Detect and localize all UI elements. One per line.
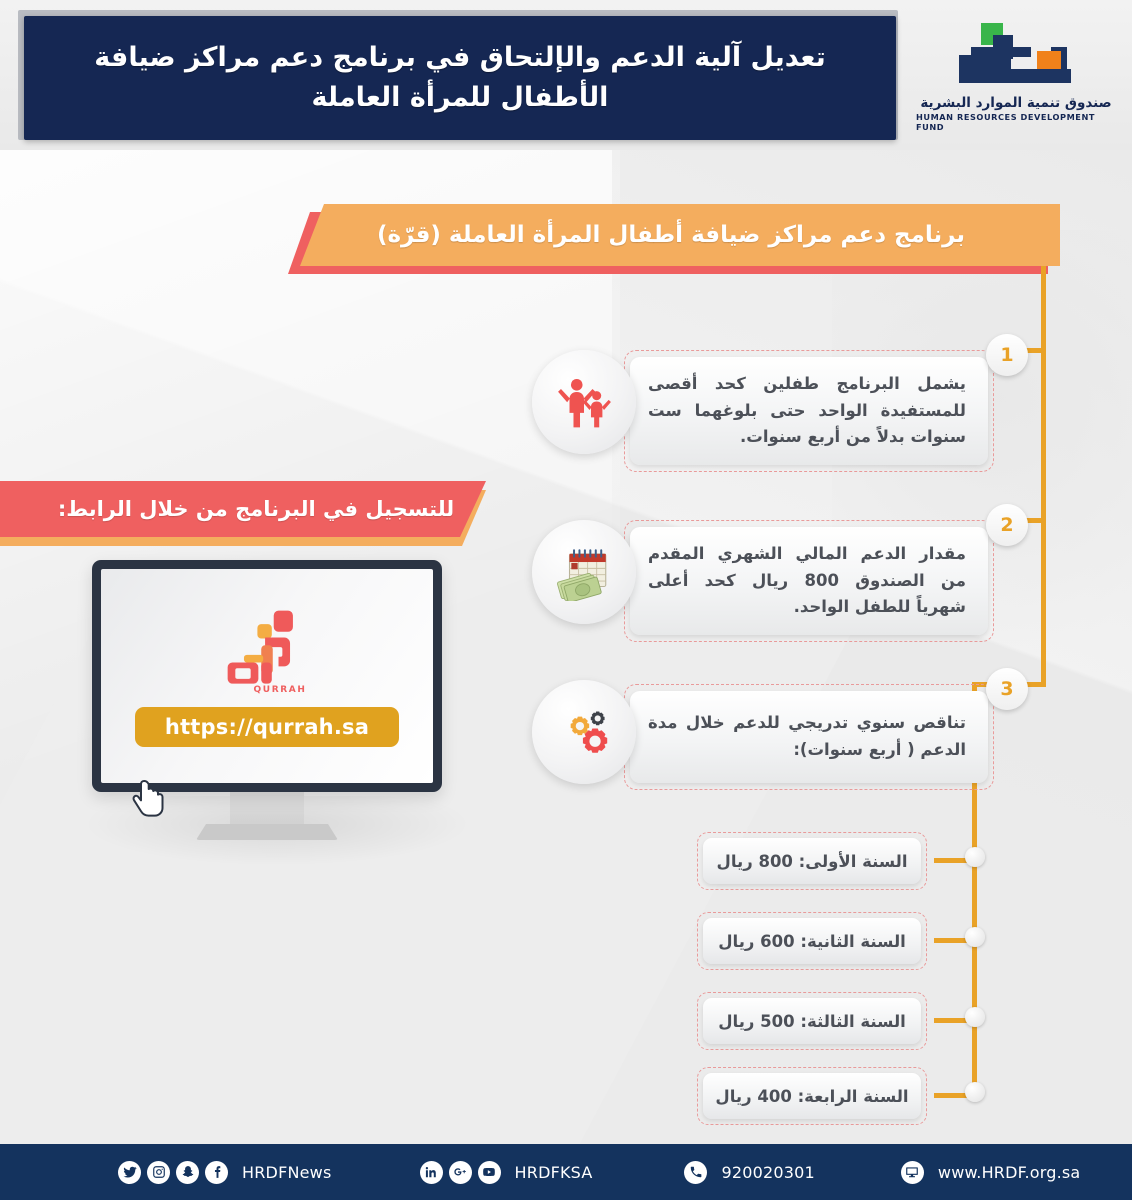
register-banner-label: للتسجيل في البرنامج من خلال الرابط: <box>32 497 454 521</box>
hrdf-logo-arabic-text: صندوق تنمية الموارد البشرية <box>920 95 1111 111</box>
twitter-icon[interactable] <box>118 1161 141 1184</box>
fact-number-badge-1: 1 <box>986 334 1028 376</box>
footer-label-news: HRDFNews <box>242 1163 332 1182</box>
year-card-body: السنة الثالثة: 500 ريال <box>703 998 921 1044</box>
header-panel: تعديل آلية الدعم والإلتحاق في برنامج دعم… <box>24 16 896 140</box>
monitor-screen: QURRAH https://qurrah.sa <box>101 569 433 783</box>
qurrah-wordmark: QURRAH <box>254 685 307 695</box>
linkedin-icon[interactable] <box>420 1161 443 1184</box>
header: تعديل آلية الدعم والإلتحاق في برنامج دعم… <box>0 0 1132 150</box>
fact-text-1: يشمل البرنامج طفلين كحد أقصى للمستفيدة ا… <box>630 371 988 451</box>
footer-group-social-news: HRDFNews <box>118 1161 332 1184</box>
fact-card-2: مقدار الدعم المالي الشهري المقدم من الصن… <box>624 520 994 642</box>
program-banner: برنامج دعم مراكز ضيافة أطفال المرأة العا… <box>300 204 1060 266</box>
facebook-icon[interactable] <box>205 1161 228 1184</box>
footer-group-social-ksa: HRDFKSA <box>420 1161 593 1184</box>
fact-number-badge-3: 3 <box>986 668 1028 710</box>
gears-icon <box>532 680 636 784</box>
monitor-base <box>196 824 338 840</box>
program-banner-label: برنامج دعم مراكز ضيافة أطفال المرأة العا… <box>377 222 983 248</box>
year-connector-dot-3 <box>965 1007 985 1027</box>
year-card-body: السنة الأولى: 800 ريال <box>703 838 921 884</box>
footer-label-website: www.HRDF.org.sa <box>938 1163 1081 1182</box>
phone-icon[interactable] <box>684 1161 707 1184</box>
google-plus-icon[interactable] <box>449 1161 472 1184</box>
register-banner: للتسجيل في البرنامج من خلال الرابط: <box>0 481 486 537</box>
footer-label-ksa: HRDFKSA <box>515 1163 593 1182</box>
year-label-2: السنة الثانية: 600 ريال <box>718 932 906 951</box>
fact-card-1: يشمل البرنامج طفلين كحد أقصى للمستفيدة ا… <box>624 350 994 472</box>
fact-number-badge-2: 2 <box>986 504 1028 546</box>
gears-icon-glyph <box>555 703 613 761</box>
connector-main-line <box>1041 266 1046 686</box>
qurrah-url-button[interactable]: https://qurrah.sa <box>135 707 399 747</box>
monitor-icon[interactable] <box>901 1161 924 1184</box>
footer-group-phone: 920020301 <box>684 1161 814 1184</box>
fact-card-body: يشمل البرنامج طفلين كحد أقصى للمستفيدة ا… <box>630 357 988 465</box>
year-connector-dot-4 <box>965 1082 985 1102</box>
snapchat-icon[interactable] <box>176 1161 199 1184</box>
infographic-poster: تعديل آلية الدعم والإلتحاق في برنامج دعم… <box>0 0 1132 1200</box>
calendar-money-icon-glyph <box>555 543 613 601</box>
year-label-1: السنة الأولى: 800 ريال <box>717 852 908 871</box>
year-item-3: السنة الثالثة: 500 ريال <box>697 992 927 1050</box>
page-title: تعديل آلية الدعم والإلتحاق في برنامج دعم… <box>24 38 896 119</box>
footer-label-phone: 920020301 <box>721 1163 814 1182</box>
fact-text-2: مقدار الدعم المالي الشهري المقدم من الصن… <box>630 541 988 621</box>
youtube-icon[interactable] <box>478 1161 501 1184</box>
family-icon <box>532 350 636 454</box>
calendar-money-icon <box>532 520 636 624</box>
year-card-body: السنة الثانية: 600 ريال <box>703 918 921 964</box>
footer-group-website: www.HRDF.org.sa <box>901 1161 1081 1184</box>
year-label-4: السنة الرابعة: 400 ريال <box>715 1087 908 1106</box>
year-item-4: السنة الرابعة: 400 ريال <box>697 1067 927 1125</box>
hrdf-logo-english-text: HUMAN RESOURCES DEVELOPMENT FUND <box>916 112 1116 132</box>
fact-card-body: تناقص سنوي تدريجي للدعم خلال مدة الدعم (… <box>630 691 988 783</box>
fact-text-3: تناقص سنوي تدريجي للدعم خلال مدة الدعم (… <box>630 710 988 763</box>
monitor-illustration: QURRAH https://qurrah.sa <box>92 560 462 850</box>
year-connector-dot-2 <box>965 927 985 947</box>
fact-card-3: تناقص سنوي تدريجي للدعم خلال مدة الدعم (… <box>624 684 994 790</box>
connector-years-line <box>972 800 977 1095</box>
year-card-body: السنة الرابعة: 400 ريال <box>703 1073 921 1119</box>
hand-cursor-icon <box>132 778 166 822</box>
year-connector-dot-1 <box>965 847 985 867</box>
instagram-icon[interactable] <box>147 1161 170 1184</box>
fact-card-body: مقدار الدعم المالي الشهري المقدم من الصن… <box>630 527 988 635</box>
family-icon-glyph <box>555 373 613 431</box>
monitor-frame: QURRAH https://qurrah.sa <box>92 560 442 792</box>
hrdf-logo-mark <box>941 21 1091 93</box>
year-item-1: السنة الأولى: 800 ريال <box>697 832 927 890</box>
hrdf-logo: صندوق تنمية الموارد البشرية HUMAN RESOUR… <box>916 14 1116 138</box>
year-item-2: السنة الثانية: 600 ريال <box>697 912 927 970</box>
footer-bar: HRDFNews HRDFKSA 920020301 www.HRD <box>0 1144 1132 1200</box>
year-label-3: السنة الثالثة: 500 ريال <box>718 1012 906 1031</box>
